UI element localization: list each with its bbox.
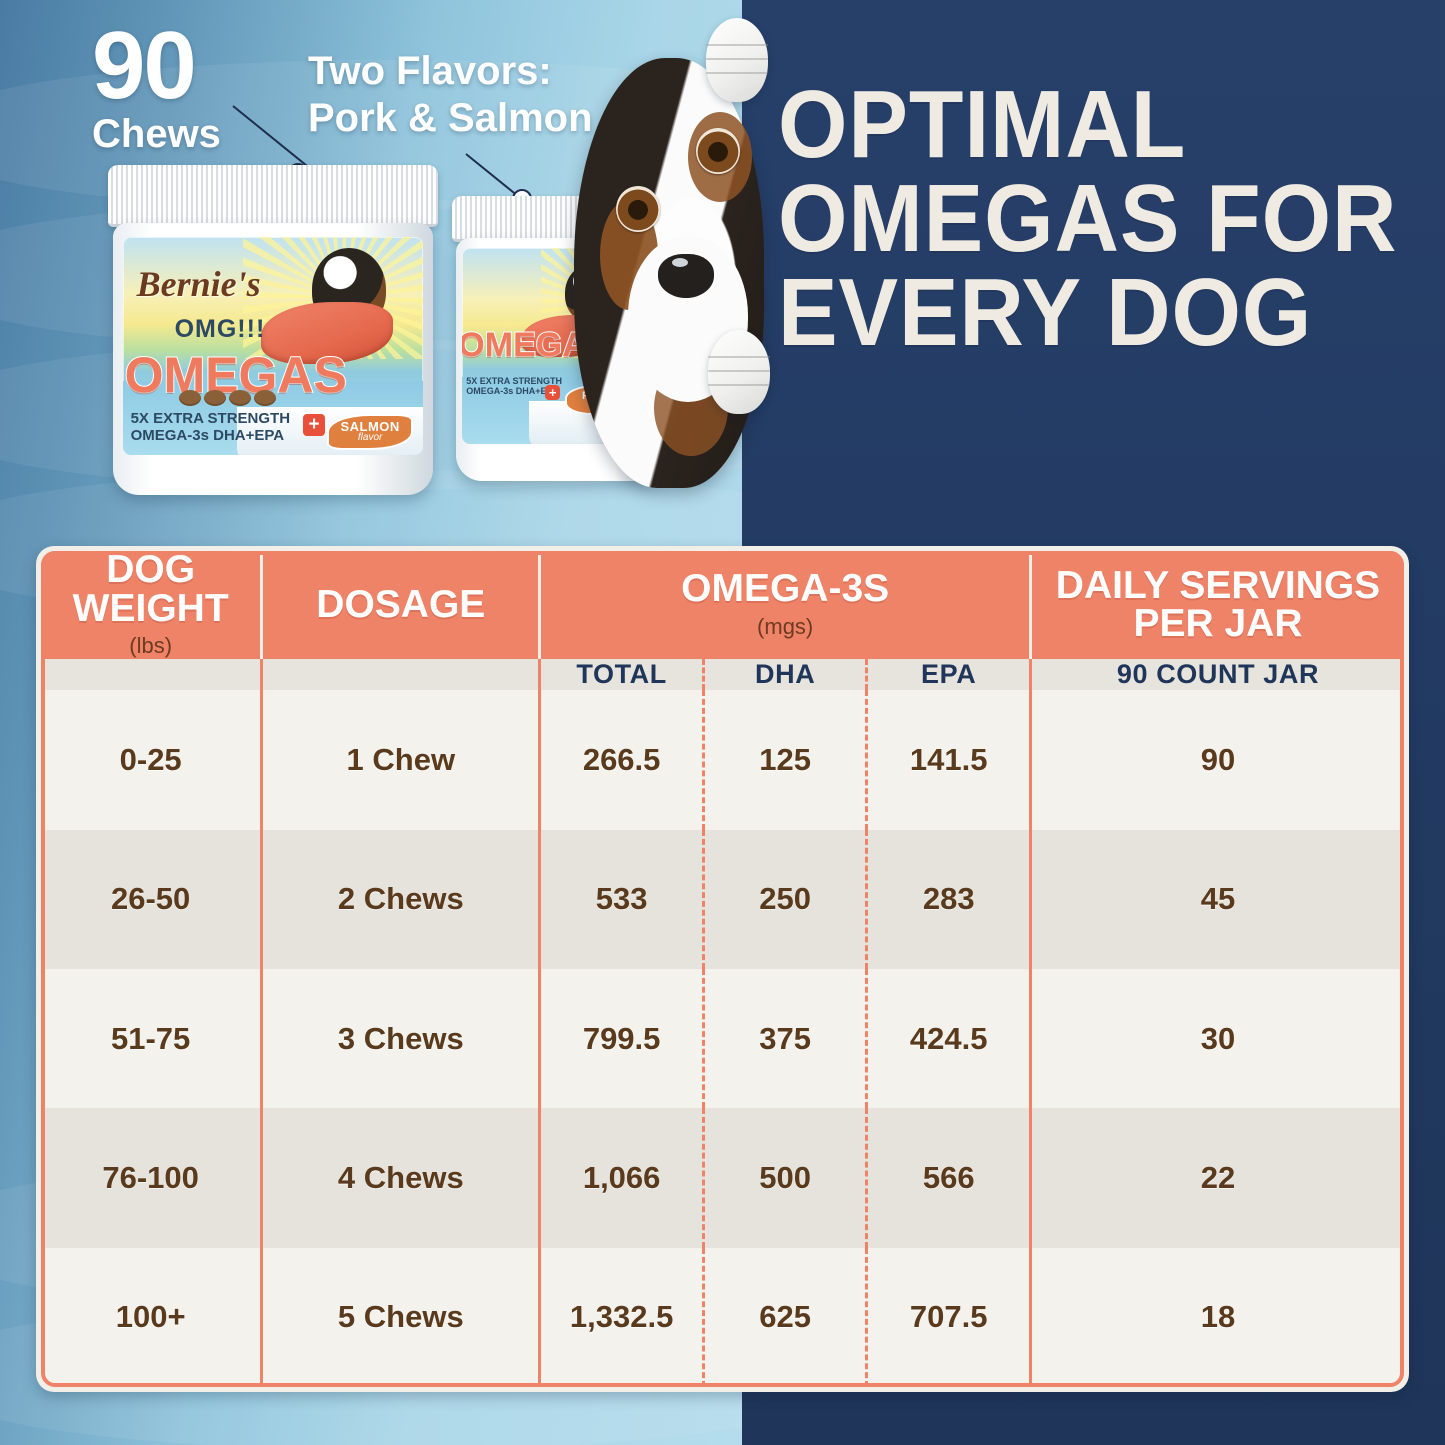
cell-dosage: 4 Chews [262, 1108, 540, 1247]
header-daily-servings: DAILY SERVINGS PER JAR [1030, 551, 1404, 659]
flavors-line-1: Two Flavors: [308, 48, 593, 95]
cell-servings: 18 [1030, 1248, 1404, 1387]
cell-total: 1,066 [540, 1108, 704, 1247]
flavor-badge-salmon: SALMON flavor [327, 414, 413, 450]
cell-servings: 90 [1030, 690, 1404, 829]
header-omega-3s: OMEGA-3S (mgs) [540, 551, 1031, 659]
cell-dha: 250 [703, 830, 867, 969]
label-brand-name: Bernie's [137, 263, 261, 305]
subheader-blank-weight [41, 659, 262, 690]
headline-line-3: EVERY DOG [778, 266, 1373, 360]
dog-eye [616, 186, 660, 232]
headline-line-1: OPTIMAL [778, 78, 1373, 172]
cell-total: 266.5 [540, 690, 704, 829]
label-plus-icon: + [303, 414, 325, 436]
header-dog-weight-title: DOG WEIGHT [41, 551, 260, 628]
subheader-blank-dosage [262, 659, 540, 690]
header-daily-servings-title: DAILY SERVINGS PER JAR [1032, 567, 1404, 644]
jar-cap [108, 165, 438, 227]
cell-epa: 566 [867, 1108, 1031, 1247]
dosage-table-container: DOG WEIGHT (lbs) DOSAGE OMEGA-3S (mgs) D… [36, 546, 1409, 1392]
cell-dog-weight: 26-50 [41, 830, 262, 969]
cell-dha: 125 [703, 690, 867, 829]
chew-piece [229, 390, 251, 406]
table-row: 100+ 5 Chews 1,332.5 625 707.5 18 [41, 1248, 1404, 1387]
label-strength-line-1: 5X EXTRA STRENGTH [131, 411, 290, 428]
cell-total: 799.5 [540, 969, 704, 1108]
peeking-dog-illustration [556, 0, 796, 560]
cell-epa: 283 [867, 830, 1031, 969]
cell-dosage: 3 Chews [262, 969, 540, 1108]
flavor-badge-sub: flavor [358, 433, 382, 443]
chew-piece [204, 390, 226, 406]
table-row: 51-75 3 Chews 799.5 375 424.5 30 [41, 969, 1404, 1108]
subheader-epa: EPA [867, 659, 1031, 690]
cell-dosage: 2 Chews [262, 830, 540, 969]
header-dog-weight: DOG WEIGHT (lbs) [41, 551, 262, 659]
flavors-callout: Two Flavors: Pork & Salmon [308, 48, 593, 142]
subheader-total: TOTAL [540, 659, 704, 690]
cell-servings: 30 [1030, 969, 1404, 1108]
table-subheader-row: TOTAL DHA EPA 90 COUNT JAR [41, 659, 1404, 690]
cell-dha: 375 [703, 969, 867, 1108]
cell-epa: 707.5 [867, 1248, 1031, 1387]
label-strength: 5X EXTRA STRENGTH OMEGA-3s DHA+EPA [131, 411, 290, 444]
cell-epa: 141.5 [867, 690, 1031, 829]
cell-dha: 625 [703, 1248, 867, 1387]
jar-label: Bernie's OMG!!! OMEGAS 5X EXTRA STRENGTH… [123, 237, 424, 455]
cell-servings: 22 [1030, 1108, 1404, 1247]
header-dosage: DOSAGE [262, 551, 540, 659]
label-chew-pieces [179, 390, 276, 406]
dog-eye [696, 128, 740, 174]
headline-line-2: OMEGAS FOR [778, 172, 1373, 266]
chew-count-callout: 90 Chews [92, 22, 221, 154]
subheader-dha: DHA [703, 659, 867, 690]
dog-paw [708, 330, 770, 414]
label-strength-line-2: OMEGA-3s DHA+EPA [131, 428, 290, 445]
cell-dha: 500 [703, 1108, 867, 1247]
cell-dog-weight: 0-25 [41, 690, 262, 829]
cell-dosage: 5 Chews [262, 1248, 540, 1387]
page-headline: OPTIMAL OMEGAS FOR EVERY DOG [778, 78, 1373, 360]
label-sub-brand: OMG!!! [175, 315, 266, 344]
chew-count-label: Chews [92, 114, 221, 154]
subheader-count-jar: 90 COUNT JAR [1030, 659, 1404, 690]
chew-count-number: 90 [92, 22, 221, 110]
header-omega-3s-unit: (mgs) [541, 614, 1029, 640]
cell-total: 1,332.5 [540, 1248, 704, 1387]
header-dosage-title: DOSAGE [263, 586, 538, 625]
table-row: 76-100 4 Chews 1,066 500 566 22 [41, 1108, 1404, 1247]
table-header-row: DOG WEIGHT (lbs) DOSAGE OMEGA-3S (mgs) D… [41, 551, 1404, 659]
cell-total: 533 [540, 830, 704, 969]
table-row: 0-25 1 Chew 266.5 125 141.5 90 [41, 690, 1404, 829]
cell-epa: 424.5 [867, 969, 1031, 1108]
cell-dog-weight: 76-100 [41, 1108, 262, 1247]
header-dog-weight-unit: (lbs) [41, 633, 260, 659]
cell-servings: 45 [1030, 830, 1404, 969]
product-jar-salmon: Bernie's OMG!!! OMEGAS 5X EXTRA STRENGTH… [108, 165, 438, 495]
chew-piece [254, 390, 276, 406]
cell-dosage: 1 Chew [262, 690, 540, 829]
cell-dog-weight: 100+ [41, 1248, 262, 1387]
flavors-line-2: Pork & Salmon [308, 95, 593, 142]
table-row: 26-50 2 Chews 533 250 283 45 [41, 830, 1404, 969]
dog-paw [706, 18, 768, 102]
dosage-table: DOG WEIGHT (lbs) DOSAGE OMEGA-3S (mgs) D… [41, 551, 1404, 1387]
cell-dog-weight: 51-75 [41, 969, 262, 1108]
chew-piece [179, 390, 201, 406]
header-omega-3s-title: OMEGA-3S [541, 570, 1029, 609]
dog-nose-highlight [672, 258, 688, 267]
jar-body: Bernie's OMG!!! OMEGAS 5X EXTRA STRENGTH… [113, 223, 433, 495]
